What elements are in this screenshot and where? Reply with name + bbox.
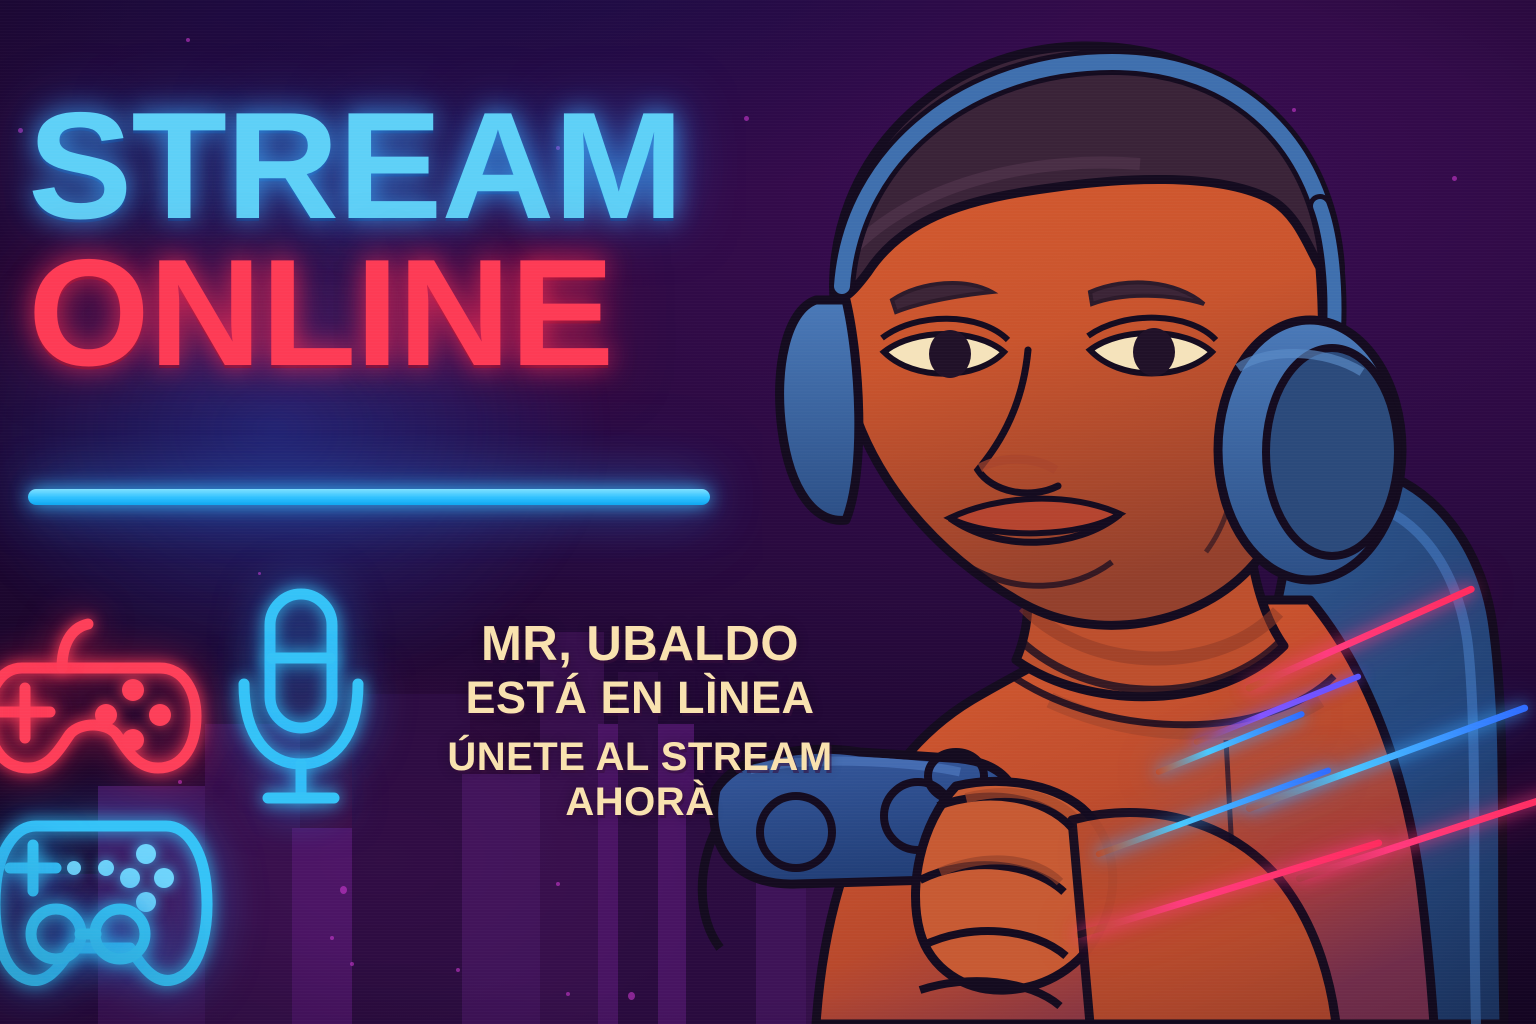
headline-block: STREAM ONLINE — [28, 96, 728, 385]
cta-line-urgency: AHORÀ — [430, 782, 850, 823]
cta-line-name: MR, UBALDO — [430, 620, 850, 669]
gamepad-modern-icon — [0, 806, 209, 1006]
gamepad-retro-icon — [0, 612, 198, 802]
headline-stream: STREAM — [28, 96, 749, 237]
cta-line-action: ÚNETE AL STREAM — [430, 737, 850, 778]
microphone-icon — [236, 588, 366, 810]
cta-line-status: ESTÁ EN LÌNEA — [430, 675, 850, 721]
streamer-avatar — [620, 0, 1536, 1024]
poster-canvas: STREAM ONLINE — [0, 0, 1536, 1024]
cta-text-block: MR, UBALDO ESTÁ EN LÌNEA ÚNETE AL STREAM… — [430, 620, 850, 822]
headline-online: ONLINE — [28, 243, 749, 384]
neon-divider-bar — [28, 489, 710, 505]
